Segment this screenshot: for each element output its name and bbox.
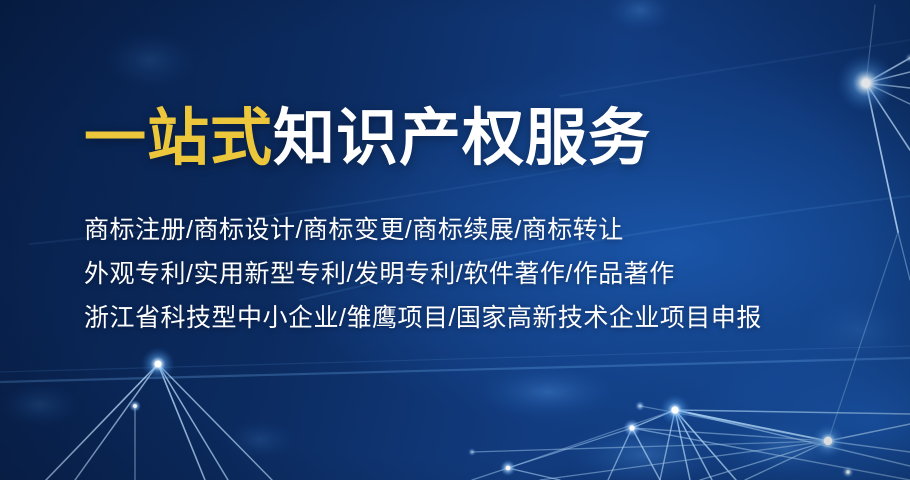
network-lines-left-hub: [46, 364, 272, 480]
service-line-patent: 外观专利/实用新型专利/发明专利/软件著作/作品著作: [84, 252, 844, 296]
promo-banner: 一站式知识产权服务 商标注册/商标设计/商标变更/商标续展/商标转让 外观专利/…: [0, 0, 910, 480]
service-line-trademark: 商标注册/商标设计/商标变更/商标续展/商标转让: [84, 208, 844, 252]
headline-main: 知识产权服务: [273, 104, 651, 173]
service-line-enterprise-program: 浙江省科技型中小企业/雏鹰项目/国家高新技术企业项目申报: [84, 296, 844, 340]
headline-accent: 一站式: [84, 104, 273, 173]
page-title: 一站式知识产权服务: [84, 108, 844, 170]
banner-content: 一站式知识产权服务 商标注册/商标设计/商标变更/商标续展/商标转让 外观专利/…: [84, 108, 844, 340]
service-list: 商标注册/商标设计/商标变更/商标续展/商标转让 外观专利/实用新型专利/发明专…: [84, 208, 844, 340]
